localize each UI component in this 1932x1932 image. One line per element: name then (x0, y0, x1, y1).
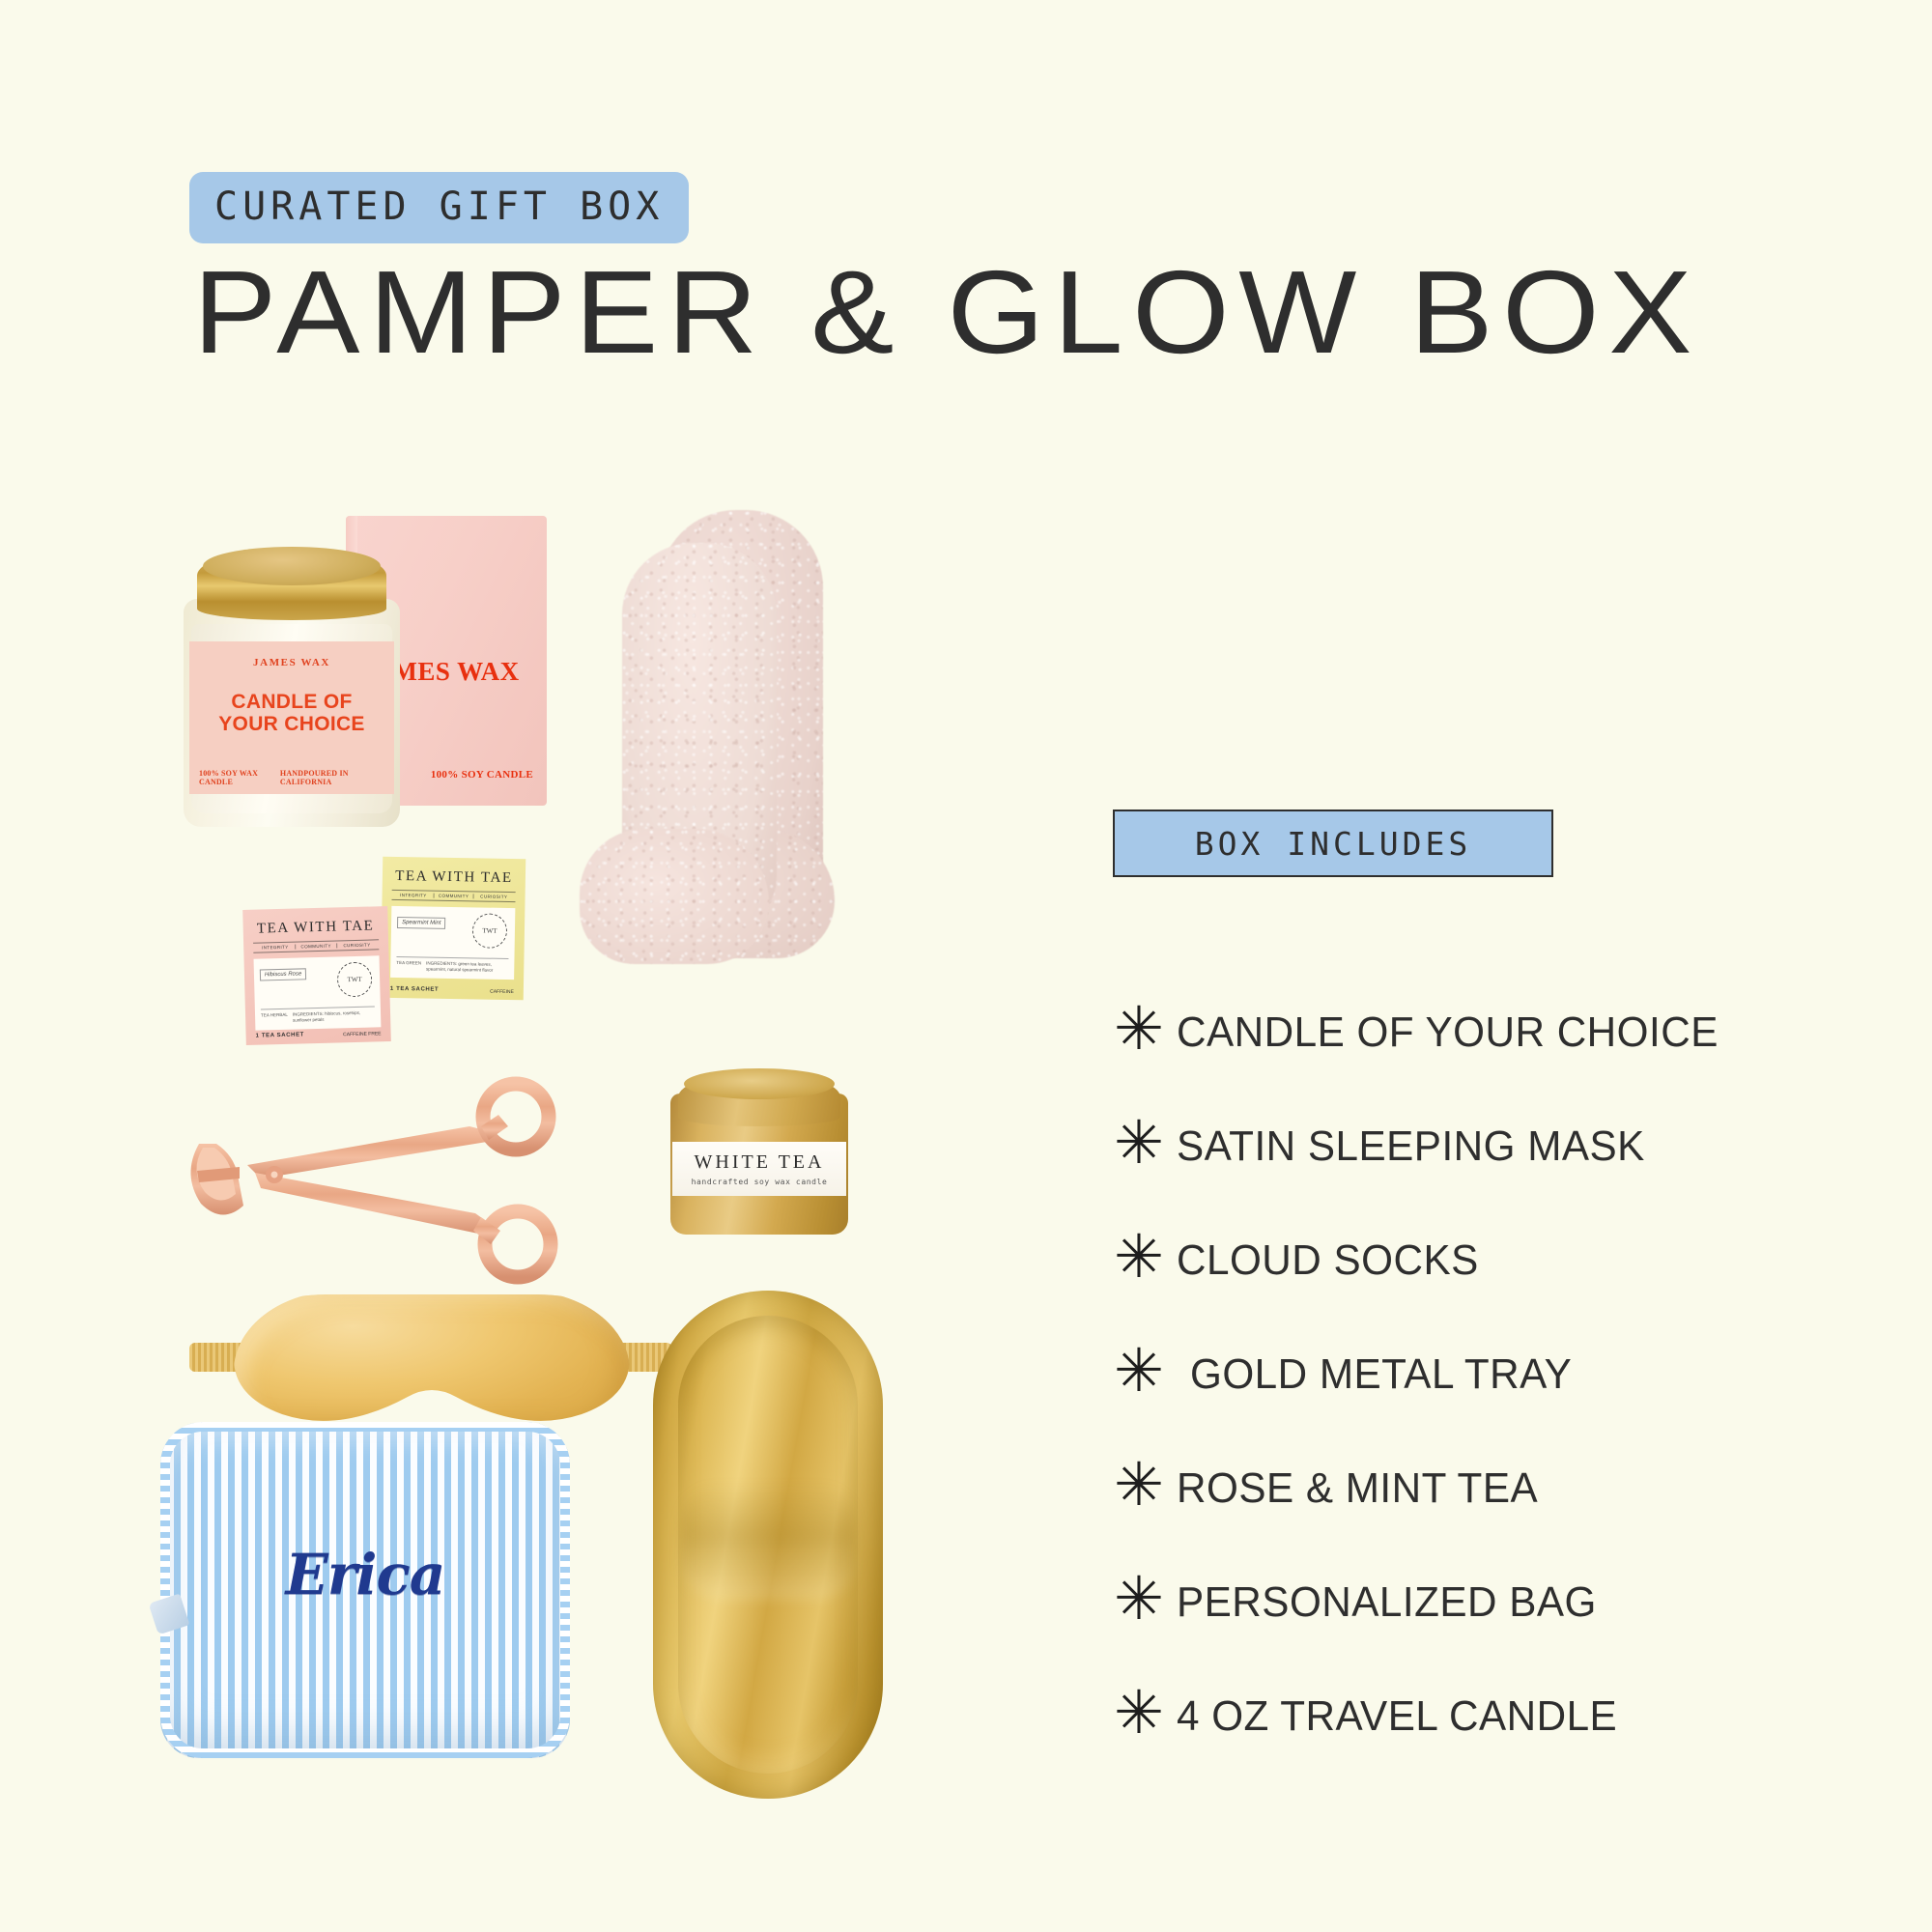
tea-sachet-pink-photo: TEA WITH TAE INTEGRITY COMMUNITY CURIOSI… (242, 906, 391, 1045)
bag-embroidered-name: Erica (160, 1542, 570, 1607)
tin-title: WHITE TEA (695, 1151, 825, 1174)
sachet-tag: INTEGRITY (394, 893, 435, 898)
asterisk-bullet-icon: ✳ (1101, 1683, 1177, 1743)
sachet-yellow-body: TEA WITH TAE INTEGRITY COMMUNITY CURIOSI… (381, 857, 526, 1001)
asterisk-bullet-icon: ✳ (1101, 1227, 1177, 1287)
sachet-pink-type: TEA HERBAL (261, 1011, 288, 1025)
tea-sachet-yellow-photo: TEA WITH TAE INTEGRITY COMMUNITY CURIOSI… (381, 857, 526, 1001)
personalized-bag-photo: Erica (160, 1422, 570, 1758)
sachet-yellow-caffeine: CAFFEINE (490, 989, 514, 995)
jar-label-line2: YOUR CHOICE (218, 714, 364, 736)
sachet-yellow-foot: 1 TEA SACHET (390, 986, 439, 993)
sachet-pink-caffeine: CAFFEINE FREE (343, 1031, 382, 1037)
list-item-label: CANDLE OF YOUR CHOICE (1177, 1009, 1719, 1057)
list-item-label: 4 OZ TRAVEL CANDLE (1177, 1692, 1617, 1741)
candle-box-footnote: 100% SOY CANDLE (431, 769, 533, 781)
asterisk-bullet-icon: ✳ (1101, 1569, 1177, 1629)
tin-label: WHITE TEA handcrafted soy wax candle (672, 1142, 846, 1196)
sachet-pink-card: Hibiscus Rose TWT TEA HERBAL INGREDIENTS… (254, 955, 382, 1030)
sachet-tag: COMMUNITY (296, 943, 336, 949)
asterisk-bullet-icon: ✳ (1101, 1341, 1177, 1401)
gift-box-graphic: CURATED GIFT BOX PAMPER & GLOW BOX AMES … (0, 0, 1932, 1932)
sachet-pink-tags: INTEGRITY COMMUNITY CURIOSITY (253, 939, 379, 952)
cloud-socks-photo (580, 510, 835, 1041)
box-includes-list: ✳ CANDLE OF YOUR CHOICE ✳ SATIN SLEEPING… (1101, 976, 1797, 1774)
sachet-tag: COMMUNITY (434, 894, 474, 899)
sachet-yellow-tags: INTEGRITY COMMUNITY CURIOSITY (391, 890, 515, 902)
list-item: ✳ PERSONALIZED BAG (1101, 1546, 1797, 1660)
asterisk-bullet-icon: ✳ (1101, 1455, 1177, 1515)
sachet-pink-ingredients: INGREDIENTS: hibiscus, rosehips, sunflow… (293, 1009, 376, 1025)
sachet-pink-stamp: TWT (337, 962, 373, 998)
gold-tray-photo (653, 1291, 883, 1799)
sachet-yellow-variety: Spearmint Mint (397, 917, 446, 929)
sachet-yellow-stamp: TWT (472, 913, 508, 949)
list-item-label: ROSE & MINT TEA (1177, 1464, 1538, 1513)
sachet-pink-ingredients-row: TEA HERBAL INGREDIENTS: hibiscus, rosehi… (261, 1006, 375, 1026)
sachet-yellow-type: TEA GREEN (396, 959, 421, 973)
sachet-yellow-brand: TEA WITH TAE (392, 868, 516, 887)
jar-label: JAMES WAX CANDLE OF YOUR CHOICE 100% SOY… (189, 641, 394, 794)
list-item-label: PERSONALIZED BAG (1177, 1578, 1597, 1627)
list-item: ✳ GOLD METAL TRAY (1101, 1318, 1797, 1432)
box-includes-heading: BOX INCLUDES (1113, 810, 1553, 877)
jar-foot-left: 100% SOY WAX CANDLE (199, 769, 280, 786)
sachet-pink-variety: Hibiscus Rose (260, 968, 307, 980)
page-title: PAMPER & GLOW BOX (193, 249, 1701, 377)
list-item: ✳ CLOUD SOCKS (1101, 1204, 1797, 1318)
list-item: ✳ 4 OZ TRAVEL CANDLE (1101, 1660, 1797, 1774)
sachet-pink-brand: TEA WITH TAE (253, 918, 379, 937)
list-item-label: CLOUD SOCKS (1177, 1236, 1479, 1285)
sachet-pink-body: TEA WITH TAE INTEGRITY COMMUNITY CURIOSI… (242, 906, 391, 1045)
list-item: ✳ SATIN SLEEPING MASK (1101, 1090, 1797, 1204)
sleep-mask-photo (189, 1285, 672, 1439)
eyebrow-badge: CURATED GIFT BOX (189, 172, 689, 243)
sachet-tag: CURIOSITY (337, 942, 377, 948)
sock-front-foot (580, 829, 769, 964)
tray-sheen (682, 1484, 854, 1600)
sachet-yellow-card: Spearmint Mint TWT TEA GREEN INGREDIENTS… (390, 906, 515, 980)
tin-subtitle: handcrafted soy wax candle (692, 1178, 828, 1186)
wick-trimmer-icon (180, 1070, 595, 1287)
jar-label-footnotes: 100% SOY WAX CANDLE HANDPOURED IN CALIFO… (189, 769, 394, 786)
asterisk-bullet-icon: ✳ (1101, 999, 1177, 1059)
sachet-tag: INTEGRITY (255, 945, 296, 951)
sachet-yellow-ingredients-row: TEA GREEN INGREDIENTS: green tea leaves,… (396, 955, 508, 975)
jar-label-main: CANDLE OF YOUR CHOICE (218, 692, 364, 735)
candle-jar-photo: JAMES WAX CANDLE OF YOUR CHOICE 100% SOY… (180, 549, 404, 829)
wick-trimmer-photo (180, 1070, 595, 1287)
travel-tin-photo: WHITE TEA handcrafted soy wax candle (663, 1061, 856, 1236)
sachet-tag: CURIOSITY (474, 894, 514, 899)
mask-body (234, 1291, 630, 1434)
list-item: ✳ CANDLE OF YOUR CHOICE (1101, 976, 1797, 1090)
list-item: ✳ ROSE & MINT TEA (1101, 1432, 1797, 1546)
jar-foot-right: HANDPOURED IN CALIFORNIA (280, 769, 384, 786)
jar-label-brand: JAMES WAX (253, 657, 330, 668)
sachet-yellow-ingredients: INGREDIENTS: green tea leaves, spearmint… (426, 960, 508, 975)
jar-label-line1: CANDLE OF (218, 692, 364, 714)
list-item-label: SATIN SLEEPING MASK (1177, 1122, 1645, 1171)
list-item-label: GOLD METAL TRAY (1190, 1350, 1572, 1399)
sachet-pink-foot: 1 TEA SACHET (256, 1032, 304, 1038)
tin-lid-top (684, 1068, 835, 1099)
jar-lid-top (203, 547, 381, 585)
asterisk-bullet-icon: ✳ (1101, 1113, 1177, 1173)
